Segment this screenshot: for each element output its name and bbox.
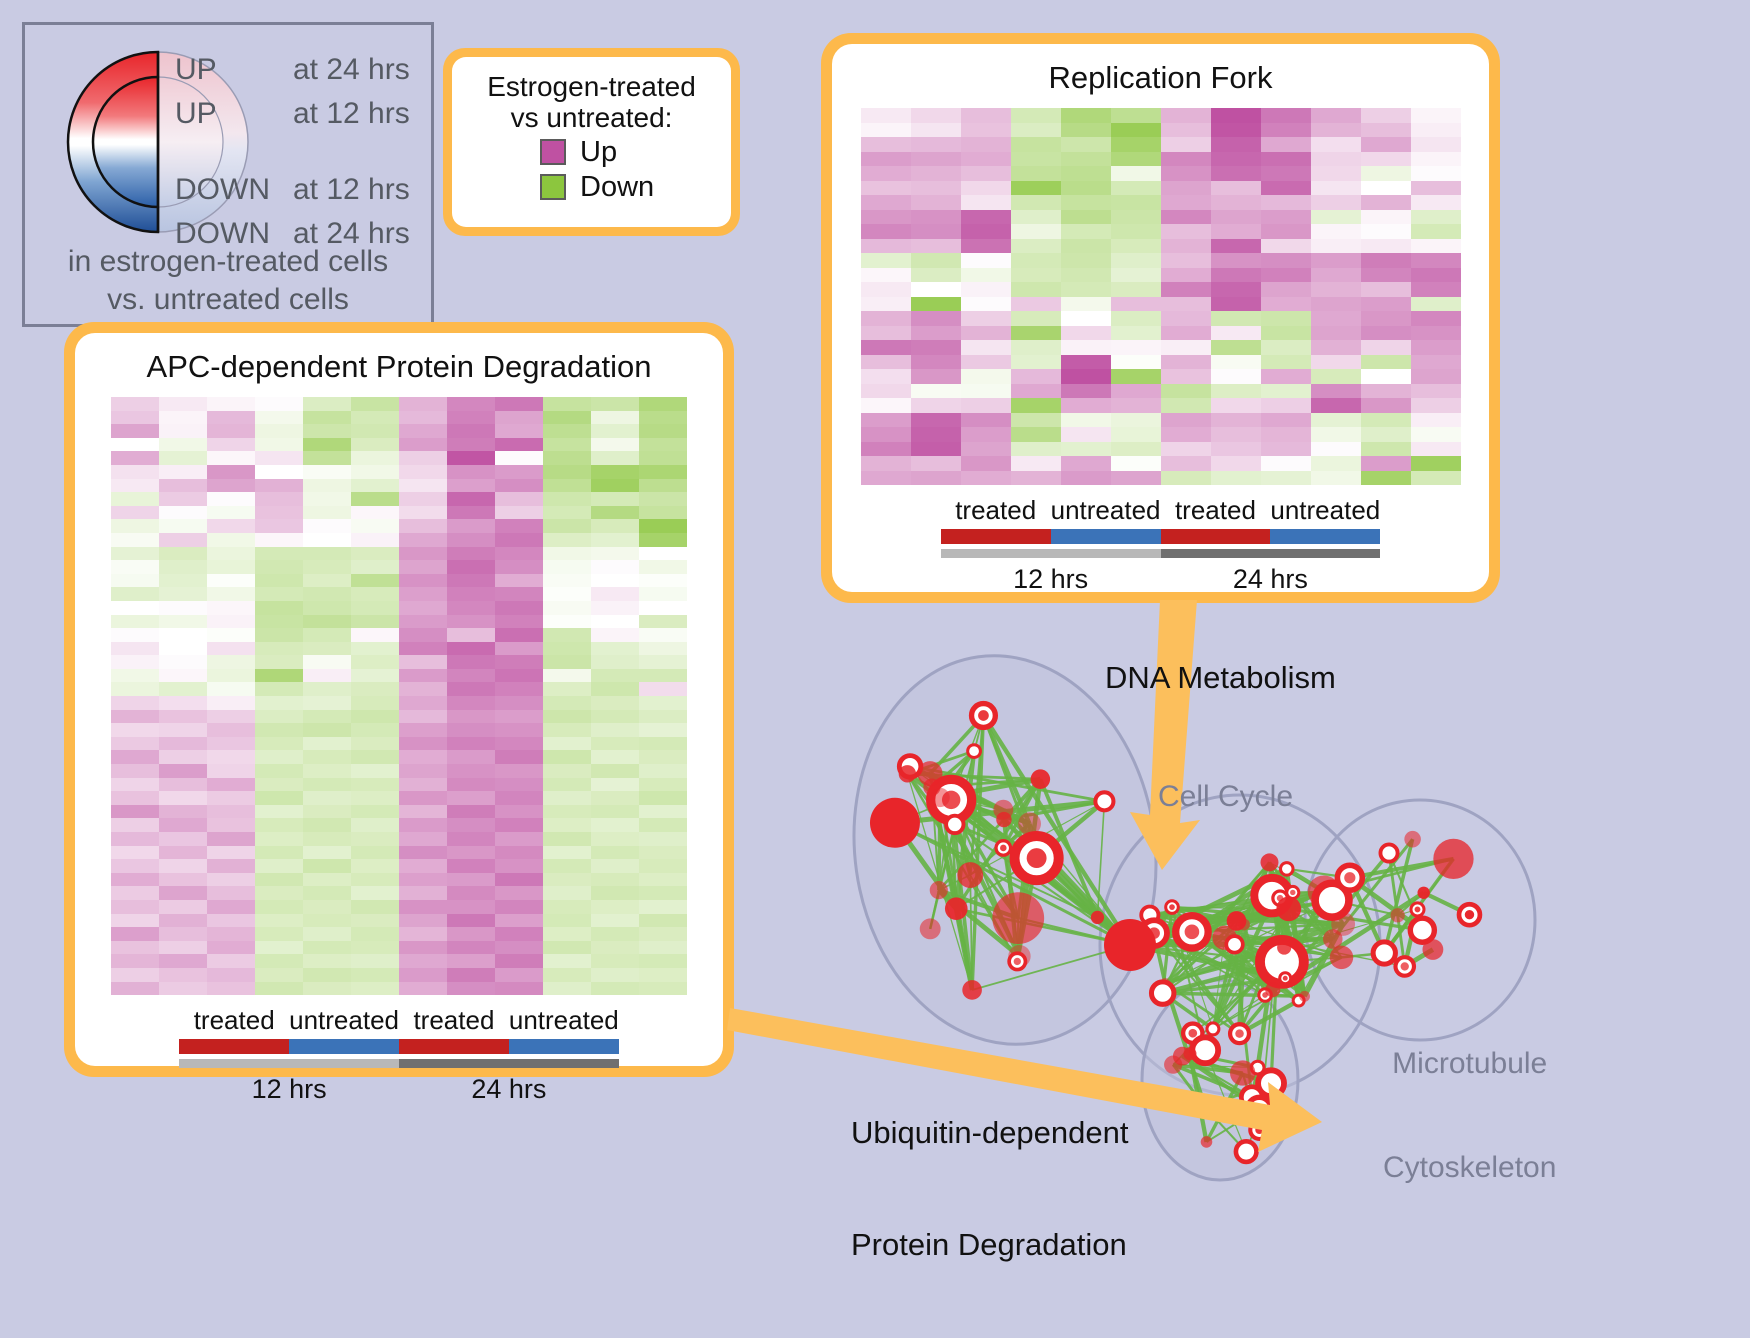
heatmap-cell [207, 560, 255, 574]
heatmap-cell [961, 297, 1011, 312]
heatmap-cell [861, 253, 911, 268]
heatmap-cell [495, 710, 543, 724]
heatmap-cell [911, 471, 961, 486]
network-node [1261, 853, 1279, 871]
heatmap-cell [639, 424, 687, 438]
heatmap-cell [399, 628, 447, 642]
heatmap-cell [159, 900, 207, 914]
heatmap-cell [495, 886, 543, 900]
heatmap-cell [1111, 384, 1161, 399]
heatmap-cell [207, 886, 255, 900]
heatmap-cell [495, 628, 543, 642]
heatmap-cell [447, 438, 495, 452]
heatmap-cell [447, 397, 495, 411]
network-node-core [1169, 904, 1175, 910]
heatmap-cell [399, 397, 447, 411]
heatmap-cell [495, 642, 543, 656]
heatmap-cell [303, 642, 351, 656]
heatmap-cell [159, 533, 207, 547]
heatmap-cell [447, 737, 495, 751]
heatmap-cell [1361, 166, 1411, 181]
heatmap-cell [591, 451, 639, 465]
heatmap-cell [495, 438, 543, 452]
condition-color-bar [179, 1039, 619, 1054]
heatmap-cell [961, 369, 1011, 384]
heatmap-cell [111, 764, 159, 778]
heatmap-cell [351, 479, 399, 493]
heatmap-cell [1011, 268, 1061, 283]
heatmap-cell [255, 723, 303, 737]
heatmap-cell [159, 519, 207, 533]
heatmap-cell [961, 166, 1011, 181]
heatmap-cell [399, 764, 447, 778]
heatmap-cell [1311, 471, 1361, 486]
heatmap-cell [1061, 152, 1111, 167]
heatmap-cell [255, 411, 303, 425]
heatmap-cell [1011, 253, 1061, 268]
heatmap-cell [207, 424, 255, 438]
heatmap-cell [861, 297, 911, 312]
heatmap-cell [159, 615, 207, 629]
heatmap-cell [399, 873, 447, 887]
network-node [1095, 792, 1113, 810]
heatmap-cell [1261, 224, 1311, 239]
heatmap-cell [911, 224, 961, 239]
heatmap-cell [639, 737, 687, 751]
heatmap-cell [303, 696, 351, 710]
heatmap-cell [303, 900, 351, 914]
heatmap-cell [111, 587, 159, 601]
heatmap-cell [1211, 427, 1261, 442]
heatmap-cell [1261, 355, 1311, 370]
heatmap-cell [1161, 398, 1211, 413]
heatmap-cell [1161, 137, 1211, 152]
heatmap-cell [591, 954, 639, 968]
timepoint-color-bar [179, 1059, 619, 1068]
heatmap-cell [1161, 471, 1211, 486]
heatmap-cell [447, 818, 495, 832]
heatmap-cell [255, 737, 303, 751]
heatmap-cell [1011, 311, 1061, 326]
heatmap-cell [1061, 340, 1111, 355]
heatmap-cell [639, 859, 687, 873]
heatmap-cell [351, 696, 399, 710]
heatmap-cell [495, 574, 543, 588]
heatmap-cell [207, 750, 255, 764]
heatmap-cell [255, 519, 303, 533]
heatmap-cell [1061, 123, 1111, 138]
heatmap-cell [1361, 181, 1411, 196]
heatmap-cell [207, 574, 255, 588]
heatmap-cell [495, 424, 543, 438]
heatmap-cell [255, 533, 303, 547]
heatmap-cell [591, 873, 639, 887]
panel-apc-degradation: APC-dependent Protein Degradation treate… [64, 322, 734, 1077]
heatmap-cell [111, 642, 159, 656]
network-node-core [1465, 910, 1474, 919]
heatmap-cell [207, 642, 255, 656]
heatmap-cell [495, 492, 543, 506]
heatmap-cell [1161, 442, 1211, 457]
heatmap-cell [255, 927, 303, 941]
heatmap-cell [543, 465, 591, 479]
heatmap-cell [399, 886, 447, 900]
heatmap-cell [911, 108, 961, 123]
heatmap-cell [861, 427, 911, 442]
legend-title-line1: Estrogen-treated [462, 71, 721, 102]
heatmap-cell [591, 968, 639, 982]
heatmap-cell [111, 560, 159, 574]
heatmap-cell [1061, 398, 1111, 413]
heatmap-cell [1061, 239, 1111, 254]
heatmap-cell [303, 411, 351, 425]
heatmap-cell [303, 397, 351, 411]
heatmap-cell [399, 723, 447, 737]
key-word: DOWN [175, 173, 293, 207]
heatmap-cell [447, 927, 495, 941]
heatmap-cell [159, 424, 207, 438]
heatmap-cell [495, 669, 543, 683]
heatmap-cell [961, 137, 1011, 152]
heatmap-cell [1361, 210, 1411, 225]
heatmap-cell [1411, 195, 1461, 210]
heatmap-cell [495, 506, 543, 520]
heatmap-cell [911, 152, 961, 167]
heatmap-cell [1311, 340, 1361, 355]
heatmap-cell [159, 710, 207, 724]
heatmap-cell [303, 886, 351, 900]
condition-label: treated [399, 1005, 509, 1036]
heatmap-cell [255, 601, 303, 615]
network-node [1201, 1136, 1213, 1148]
heatmap-cell [543, 805, 591, 819]
condition-labels: treated untreated treated untreated [179, 1005, 619, 1036]
heatmap-cell [911, 210, 961, 225]
heatmap-cell [591, 832, 639, 846]
heatmap-cell [911, 137, 961, 152]
heatmap-cell [159, 628, 207, 642]
heatmap-cell [303, 818, 351, 832]
network-node-core [1415, 906, 1421, 912]
heatmap-cell [861, 239, 911, 254]
heatmap-cell [961, 398, 1011, 413]
heatmap-cell [639, 900, 687, 914]
heatmap-cell [303, 805, 351, 819]
heatmap-cell [495, 696, 543, 710]
timepoint-color-bar [941, 549, 1381, 558]
key-time: at 24 hrs [293, 53, 410, 87]
heatmap-cell [159, 723, 207, 737]
heatmap-cell [495, 533, 543, 547]
heatmap-cell [1411, 282, 1461, 297]
heatmap-cell [255, 954, 303, 968]
heatmap-cell [351, 941, 399, 955]
cluster-label-line1: Ubiquitin-dependent [851, 1114, 1129, 1151]
heatmap-cell [591, 560, 639, 574]
condition-color-bar [941, 529, 1381, 544]
heatmap-cell [639, 818, 687, 832]
heatmap-cell [591, 818, 639, 832]
heatmap-cell [207, 519, 255, 533]
heatmap-cell [255, 397, 303, 411]
condition-bar-segment [399, 1039, 509, 1054]
heatmap-cell [961, 456, 1011, 471]
heatmap-cell [1161, 340, 1211, 355]
legend-item-up: Up [540, 136, 721, 169]
heatmap-cell [207, 859, 255, 873]
heatmap-cell [1061, 282, 1111, 297]
heatmap-cell [159, 411, 207, 425]
heatmap-cell [1261, 413, 1311, 428]
heatmap-cell [961, 181, 1011, 196]
heatmap-cell [1311, 456, 1361, 471]
heatmap-cell [255, 451, 303, 465]
cluster-label-line2: Cytoskeleton [1383, 1151, 1556, 1186]
heatmap-cell [1211, 398, 1261, 413]
heatmap-cell [111, 859, 159, 873]
heatmap-cell [639, 832, 687, 846]
heatmap-cell [1161, 224, 1211, 239]
heatmap-cell [1411, 297, 1461, 312]
heatmap-cell [1061, 224, 1111, 239]
heatmap-cell [591, 655, 639, 669]
heatmap-cell [159, 846, 207, 860]
heatmap-cell [1261, 398, 1311, 413]
legend-label-up: Up [580, 136, 617, 169]
heatmap-cell [591, 696, 639, 710]
heatmap-cell [159, 397, 207, 411]
heatmap-cell [1361, 311, 1411, 326]
heatmap-cell [159, 547, 207, 561]
network-node [968, 745, 981, 758]
heatmap-cell [447, 805, 495, 819]
heatmap-cell [591, 682, 639, 696]
heatmap-cell [399, 846, 447, 860]
heatmap-cell [447, 547, 495, 561]
heatmap-cell [543, 438, 591, 452]
heatmap-cell [207, 982, 255, 996]
heatmap-cell [207, 954, 255, 968]
heatmap-cell [351, 764, 399, 778]
heatmap-cell [447, 723, 495, 737]
heatmap-cell [1261, 471, 1311, 486]
heatmap-cell [399, 438, 447, 452]
network-node [1373, 942, 1395, 964]
heatmap-cell [399, 914, 447, 928]
heatmap-cell [159, 465, 207, 479]
heatmap-cell [399, 519, 447, 533]
heatmap-cell [447, 941, 495, 955]
network-node [1091, 911, 1104, 924]
heatmap-cell [303, 927, 351, 941]
heatmap-cell [495, 737, 543, 751]
network-node [957, 862, 983, 888]
heatmap-cell [911, 181, 961, 196]
heatmap-cell [861, 152, 911, 167]
heatmap-cell [447, 642, 495, 656]
heatmap-cell [207, 941, 255, 955]
heatmap-cell [543, 547, 591, 561]
heatmap-cell [159, 982, 207, 996]
network-node [1195, 1097, 1216, 1118]
heatmap-cell [1311, 282, 1361, 297]
heatmap-cell [1261, 297, 1311, 312]
condition-bar-segment [941, 529, 1051, 544]
heatmap-cell [207, 927, 255, 941]
heatmap-cell [111, 710, 159, 724]
heatmap-cell [1261, 384, 1311, 399]
heatmap-cell [1061, 166, 1111, 181]
heatmap-cell [351, 533, 399, 547]
heatmap-cell [351, 832, 399, 846]
heatmap-cell [255, 818, 303, 832]
heatmap-cell [111, 941, 159, 955]
heatmap-cell [961, 210, 1011, 225]
heatmap-cell [495, 846, 543, 860]
network-node [1422, 939, 1443, 960]
heatmap-cell [207, 547, 255, 561]
heatmap-cell [159, 506, 207, 520]
heatmap-cell [1211, 152, 1261, 167]
heatmap-cell [399, 818, 447, 832]
heatmap-cell [911, 166, 961, 181]
heatmap-cell [639, 669, 687, 683]
heatmap-cell [591, 737, 639, 751]
heatmap-cell [111, 737, 159, 751]
heatmap-cell [303, 574, 351, 588]
heatmap-cell [351, 655, 399, 669]
heatmap-cell [207, 615, 255, 629]
heatmap-cell [591, 438, 639, 452]
heatmap-cell [351, 982, 399, 996]
heatmap-cell [447, 832, 495, 846]
heatmap-cell [447, 587, 495, 601]
heatmap-cell [351, 642, 399, 656]
heatmap-cell [495, 859, 543, 873]
heatmap-cell [447, 601, 495, 615]
heatmap-cell [1111, 398, 1161, 413]
heatmap-cell [1261, 181, 1311, 196]
network-node-core [1254, 1104, 1265, 1115]
heatmap-cell [495, 778, 543, 792]
heatmap-cell [111, 669, 159, 683]
heatmap-cell [351, 900, 399, 914]
heatmap-cell [111, 655, 159, 669]
heatmap-cell [159, 859, 207, 873]
heatmap-cell [303, 533, 351, 547]
heatmap-cell [1311, 108, 1361, 123]
panel-title-replication-fork: Replication Fork [1049, 60, 1273, 96]
heatmap-cell [1011, 384, 1061, 399]
heatmap-cell [111, 519, 159, 533]
heatmap-cell [1161, 384, 1211, 399]
heatmap-cell [111, 846, 159, 860]
heatmap-cell [1261, 268, 1311, 283]
heatmap-cell [447, 411, 495, 425]
heatmap-cell [1411, 137, 1461, 152]
heatmap-cell [1111, 181, 1161, 196]
heatmap-cell [543, 900, 591, 914]
heatmap-cell [591, 547, 639, 561]
heatmap-cell [639, 438, 687, 452]
heatmap-cell [639, 682, 687, 696]
heatmap-cell [1111, 355, 1161, 370]
network-node-core [1401, 962, 1409, 970]
heatmap-cell [255, 846, 303, 860]
heatmap-cell [207, 533, 255, 547]
network-node [962, 980, 982, 1000]
heatmap-cell [861, 210, 911, 225]
heatmap-cell [303, 628, 351, 642]
heatmap-cell [1061, 355, 1111, 370]
heatmap-cell [495, 750, 543, 764]
key-word: UP [175, 97, 293, 131]
heatmap-cell [1411, 326, 1461, 341]
heatmap-cell [543, 424, 591, 438]
heatmap-cell [639, 628, 687, 642]
heatmap-cell [1211, 442, 1261, 457]
network-node-core [1283, 976, 1288, 981]
heatmap-cell [1311, 195, 1361, 210]
heatmap-cell [1261, 427, 1311, 442]
heatmap-cell [303, 547, 351, 561]
heatmap-cell [111, 791, 159, 805]
heatmap-cell [351, 886, 399, 900]
timepoint-label: 12 hrs [941, 564, 1161, 595]
heatmap-cell [255, 628, 303, 642]
heatmap-cell [1211, 355, 1261, 370]
heatmap-cell [1361, 297, 1411, 312]
heatmap-cell [399, 642, 447, 656]
heatmap-cell [1361, 384, 1411, 399]
heatmap-cell [111, 873, 159, 887]
heatmap-cell [543, 615, 591, 629]
heatmap-cell [1411, 253, 1461, 268]
heatmap-cell [1111, 195, 1161, 210]
key-row-down-12: DOWN at 12 hrs [175, 173, 425, 217]
heatmap-cell [351, 601, 399, 615]
heatmap-cell [399, 506, 447, 520]
heatmap-cell [303, 914, 351, 928]
heatmap-cell [543, 492, 591, 506]
heatmap-cell [1011, 181, 1061, 196]
heatmap-cell [1211, 137, 1261, 152]
heatmap-cell [1311, 268, 1361, 283]
heatmap-cell [351, 669, 399, 683]
heatmap-cell [639, 492, 687, 506]
heatmap-cell [1061, 195, 1111, 210]
heatmap-cell [1361, 427, 1411, 442]
heatmap-cell [1361, 282, 1411, 297]
heatmap-cell [255, 587, 303, 601]
heatmap-cell [639, 696, 687, 710]
heatmap-cell [303, 941, 351, 955]
network-node [992, 892, 1044, 944]
heatmap-cell [303, 601, 351, 615]
network-node [899, 765, 916, 782]
key-row-up-24: UP at 24 hrs [175, 53, 425, 97]
heatmap-cell [303, 451, 351, 465]
heatmap-cell [207, 737, 255, 751]
heatmap-cell [1361, 268, 1411, 283]
heatmap-cell [1061, 442, 1111, 457]
panel-replication-fork: Replication Fork treated untreated treat… [821, 33, 1500, 603]
heatmap-cell [1061, 384, 1111, 399]
network-node [1104, 919, 1156, 971]
heatmap-cell [303, 438, 351, 452]
heatmap-cell [255, 791, 303, 805]
network-node-core [1014, 958, 1021, 965]
